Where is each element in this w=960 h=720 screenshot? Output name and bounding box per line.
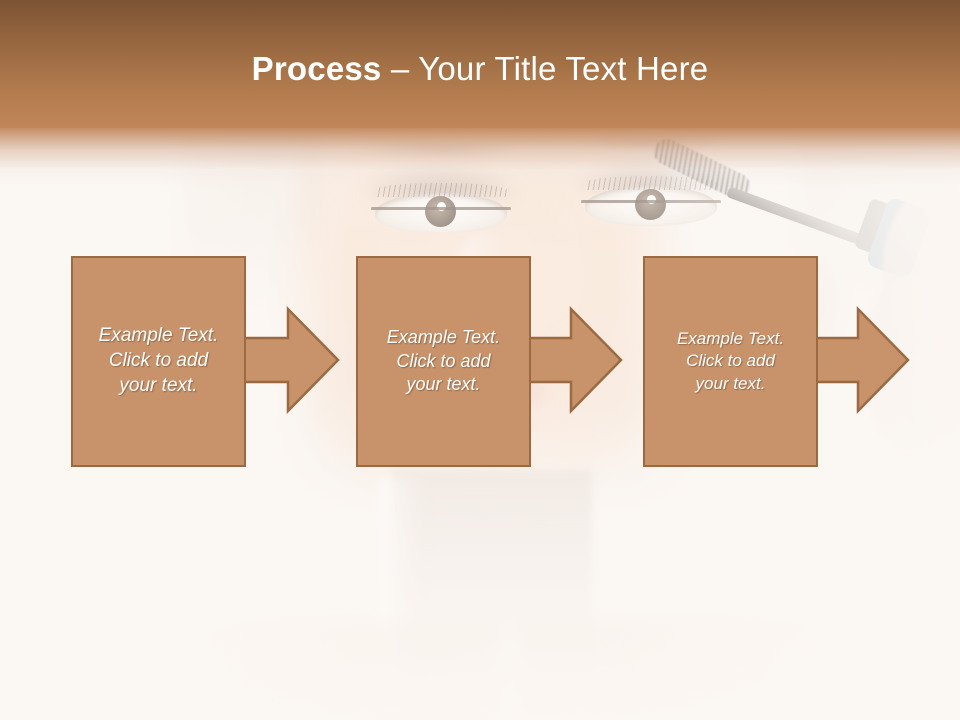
- process-step-1-text: Example Text. Click to add your text.: [91, 324, 227, 398]
- process-step-3[interactable]: Example Text. Click to add your text.: [643, 256, 818, 467]
- presentation-slide: Example Text. Click to add your text. Ex…: [0, 0, 960, 720]
- page-title-separator: –: [381, 50, 418, 87]
- page-title-strong: Process: [252, 50, 382, 87]
- process-step-2[interactable]: Example Text. Click to add your text.: [356, 256, 531, 467]
- page-title: Process – Your Title Text Here: [0, 50, 960, 88]
- process-arrow-1[interactable]: [233, 308, 339, 412]
- process-arrow-2[interactable]: [518, 308, 622, 412]
- process-step-3-text: Example Text. Click to add your text.: [669, 328, 792, 394]
- process-step-2-text: Example Text. Click to add your text.: [379, 326, 508, 396]
- page-title-rest: Your Title Text Here: [418, 50, 708, 87]
- slide-header-fade: [0, 128, 960, 186]
- process-arrow-3[interactable]: [805, 308, 909, 412]
- process-step-1[interactable]: Example Text. Click to add your text.: [71, 256, 246, 467]
